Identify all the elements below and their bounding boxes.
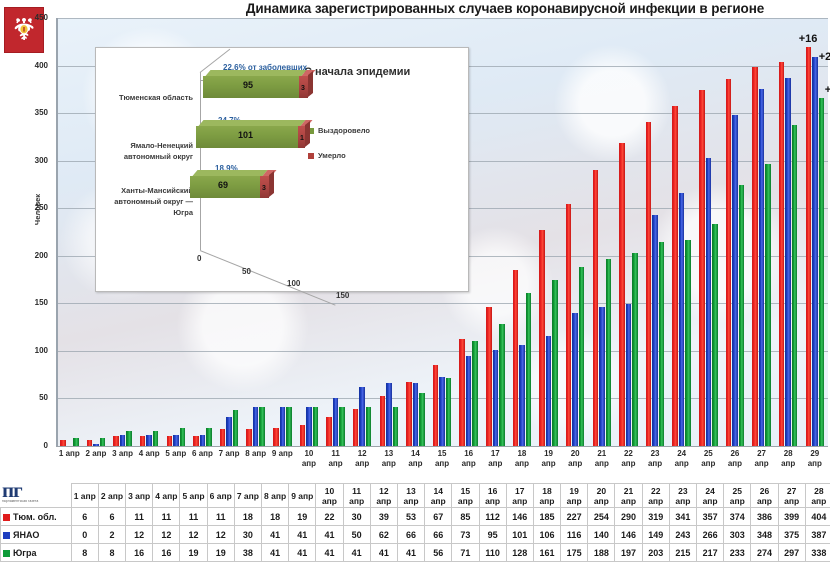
bar-1-23 [679,193,685,446]
table-cell: 19 [289,508,316,526]
bar-2-25 [739,185,745,446]
x-axis-label-25: 26апр [722,449,749,481]
table-cell: 11 [207,508,234,526]
x-axis-label-18: 19апр [535,449,562,481]
bar-2-9 [313,407,319,446]
table-col-header-27: 28апр [805,484,830,508]
inset-title: С начала эпидемии [304,64,424,80]
x-axis-label-2: 3 апр [109,449,136,481]
bar-1-11 [359,387,365,446]
bar-group [802,18,829,446]
bar-0-1 [87,440,93,446]
table-col-header-11: 12апр [370,484,397,508]
table-col-header-16: 17апр [506,484,533,508]
x-axis-label-16: 17апр [482,449,509,481]
bar-1-10 [333,398,339,446]
bar-0-6 [220,429,226,446]
table-cell: 106 [533,526,560,544]
y-axis-tick-100: 100 [0,346,48,355]
x-axis-label-9: 10апр [296,449,323,481]
x-axis-label-15: 16апр [455,449,482,481]
bar-0-13 [406,382,412,446]
table-col-header-1: 2 апр [98,484,125,508]
bar-2-14 [446,378,452,446]
bar-1-2 [120,435,126,446]
table-cell: 50 [343,526,370,544]
inset-bar-tyumen: 95 3 [203,76,299,98]
bar-1-14 [439,377,445,446]
x-axis-label-21: 22апр [615,449,642,481]
table-cell: 140 [588,526,615,544]
bar-1-20 [599,307,605,446]
table-col-header-20: 21апр [615,484,642,508]
bar-2-11 [366,407,372,446]
x-axis-label-5: 6 апр [189,449,216,481]
bar-0-21 [619,143,625,446]
x-axis-label-20: 21апр [589,449,616,481]
data-table: 1 апр2 апр3 апр4 апр5 апр6 апр7 апр8 апр… [0,483,830,562]
table-cell: 53 [397,508,424,526]
table-cell: 399 [778,508,805,526]
bar-1-9 [306,407,312,446]
bar-0-17 [513,270,519,446]
table-cell: 11 [126,508,153,526]
bar-group [482,18,509,446]
bar-0-24 [699,90,705,446]
table-cell: 387 [805,526,830,544]
inset-axis-tick-150: 150 [336,291,349,300]
y-axis-tick-150: 150 [0,298,48,307]
series-swatch-icon [3,514,10,521]
x-axis-label-10: 11апр [322,449,349,481]
bar-1-17 [519,345,525,446]
bar-0-23 [672,106,678,446]
x-axis-label-17: 18апр [509,449,536,481]
table-cell: 30 [343,508,370,526]
bar-2-24 [712,224,718,446]
bar-group [615,18,642,446]
table-col-header-3: 4 апр [153,484,180,508]
bar-0-14 [433,365,439,446]
bar-2-16 [499,324,505,446]
table-cell: 116 [561,526,588,544]
table-col-header-2: 3 апр [126,484,153,508]
table-col-header-24: 25апр [724,484,751,508]
bar-2-6 [233,410,239,446]
bar-0-25 [726,79,732,446]
bar-2-28 [819,98,825,446]
bar-2-1 [100,438,106,446]
table-cell: 375 [778,526,805,544]
table-cell: 11 [153,508,180,526]
legend-label-recovered: Выздоровело [318,126,370,135]
bar-2-12 [393,407,399,446]
x-axis-label-11: 12апр [349,449,376,481]
table-corner-cell [1,484,72,508]
bar-2-15 [472,341,478,446]
bar-group [56,18,83,446]
x-axis-label-3: 4 апр [136,449,163,481]
y-axis-tick-450: 450 [0,13,48,22]
bar-2-7 [259,407,265,446]
inset-category-label-1: Ямало-Ненецкий автономный округ [101,140,193,162]
bar-0-0 [60,440,66,446]
table-cell: 254 [588,508,615,526]
x-axis-label-8: 9 апр [269,449,296,481]
inset-bar-yanao: 101 1 [196,126,298,148]
table-col-header-23: 24апр [697,484,724,508]
inset-bar-value-recovered: 101 [238,130,253,140]
legend-swatch-died-icon [308,153,314,159]
bar-0-28 [806,47,812,446]
inset-bar-value-recovered: 69 [218,180,228,190]
table-col-header-0: 1 апр [71,484,98,508]
table-row: Тюм. обл.6611111111181819223039536785112… [1,508,830,526]
bar-1-1 [93,444,99,446]
table-cell: 386 [751,508,778,526]
y-axis-tick-200: 200 [0,251,48,260]
table-cell: 101 [506,526,533,544]
bar-0-2 [113,436,119,446]
bar-2-20 [606,259,612,446]
bar-1-16 [493,350,499,446]
x-axis-label-7: 8 апр [242,449,269,481]
table-cell: 67 [425,508,452,526]
bar-group [535,18,562,446]
inset-value-axis [200,72,201,250]
bar-0-15 [459,339,465,446]
bar-0-10 [326,417,332,446]
table-cell: 11 [180,508,207,526]
bar-2-26 [765,164,771,446]
bar-2-17 [526,293,532,446]
bar-1-18 [546,336,552,446]
bar-1-24 [706,158,712,446]
table-cell: 18 [262,508,289,526]
y-axis-tick-400: 400 [0,61,48,70]
x-axis-label-26: 27апр [748,449,775,481]
table-cell: 30 [234,526,261,544]
table-col-header-19: 20апр [588,484,615,508]
table-header-row: 1 апр2 апр3 апр4 апр5 апр6 апр7 апр8 апр… [1,484,830,508]
table-cell: 266 [697,526,724,544]
table-col-header-5: 6 апр [207,484,234,508]
y-axis-tick-250: 250 [0,203,48,212]
table-cell: 185 [533,508,560,526]
inset-bar-value-died: 1 [300,135,304,142]
table-cell: 404 [805,508,830,526]
table-cell: 18 [234,508,261,526]
legend-item-died: Умерло [308,151,370,160]
bar-2-3 [153,431,159,446]
inset-bar-died-side [305,121,310,147]
bar-1-28 [812,57,818,446]
table-col-header-18: 19апр [561,484,588,508]
bar-0-8 [273,428,279,446]
bar-0-26 [752,67,758,446]
bar-2-2 [126,431,132,446]
table-cell: 146 [506,508,533,526]
x-axis-label-12: 13апр [376,449,403,481]
inset-bar-died-side [308,71,313,97]
inset-bar-ugra: 69 3 [190,176,260,198]
bar-1-4 [173,435,179,446]
inset-bar-value-died: 3 [262,185,266,192]
table-cell: 146 [615,526,642,544]
bar-1-27 [785,78,791,446]
bar-0-11 [353,409,359,446]
series-swatch-icon [3,532,10,539]
x-axis-label-24: 25апр [695,449,722,481]
bar-group [695,18,722,446]
series-name: ЯНАО [13,530,39,540]
bar-1-25 [732,115,738,446]
bar-2-21 [632,253,638,446]
table-col-header-6: 7 апр [234,484,261,508]
bar-1-26 [759,89,765,446]
table-cell: 12 [180,526,207,544]
bar-1-15 [466,356,472,446]
table-cell: 73 [452,526,479,544]
table-cell: 12 [153,526,180,544]
bar-1-6 [226,417,232,446]
bar-2-23 [685,240,691,446]
table-cell: 227 [561,508,588,526]
table-cell: 374 [724,508,751,526]
table-cell: 149 [642,526,669,544]
delta-label-0: +16 [799,33,818,45]
screenshot-root: Динамика зарегистрированных случаев коро… [0,0,830,553]
table-cell: 341 [669,508,696,526]
axis-baseline [56,446,828,447]
bar-0-5 [193,436,199,446]
inset-bar-died-side [269,171,274,197]
table-cell: 290 [615,508,642,526]
bar-2-19 [579,267,585,446]
bar-0-16 [486,307,492,446]
inset-category-label-0: Тюменская область [101,92,193,103]
x-axis-label-28: 29апр [802,449,829,481]
table-row: ЯНАО021212121230414141506266667395101106… [1,526,830,544]
bar-group [589,18,616,446]
inset-axis-tick-100: 100 [287,279,300,288]
series-swatch-icon [3,550,10,557]
bar-0-20 [593,170,599,446]
table-col-header-25: 26апр [751,484,778,508]
table-cell: 41 [262,526,289,544]
bar-2-0 [73,438,79,446]
table-cell: 22 [316,508,343,526]
bar-0-19 [566,204,572,446]
table-cell: 95 [479,526,506,544]
bar-1-21 [626,304,632,446]
y-axis-tick-0: 0 [0,441,48,450]
bar-0-22 [646,122,652,446]
table-row-header-0: Тюм. обл. [1,508,72,526]
legend-item-recovered: Выздоровело [308,126,370,135]
bar-2-18 [552,280,558,446]
y-axis-tick-50: 50 [0,393,48,402]
table-col-header-21: 22апр [642,484,669,508]
bar-group [509,18,536,446]
table-cell: 66 [425,526,452,544]
x-axis-label-1: 2 апр [83,449,110,481]
bar-0-9 [300,425,306,446]
inset-axis-tick-0: 0 [197,254,201,263]
bar-0-7 [246,429,252,446]
x-axis-label-4: 5 апр [163,449,190,481]
table-cell: 6 [98,508,125,526]
x-axis-label-0: 1 апр [56,449,83,481]
table-col-header-26: 27апр [778,484,805,508]
bar-group [748,18,775,446]
x-axis-label-22: 23апр [642,449,669,481]
table-row-header-1: ЯНАО [1,526,72,544]
bar-1-5 [200,435,206,446]
bar-2-5 [206,428,212,446]
x-axis-label-19: 20апр [562,449,589,481]
bar-0-4 [167,436,173,446]
bar-0-18 [539,230,545,446]
table-cell: 348 [751,526,778,544]
inset-legend: Выздоровело Умерло [308,126,370,176]
table-cell: 243 [669,526,696,544]
inset-panel-since-epidemic-start: С начала эпидемии Выздоровело Умерло 0 5… [95,47,469,292]
table-cell: 12 [207,526,234,544]
bar-2-4 [180,428,186,446]
x-axis-label-13: 14апр [402,449,429,481]
x-axis-label-14: 15апр [429,449,456,481]
bar-group [642,18,669,446]
bar-0-3 [140,436,146,446]
bar-1-19 [572,313,578,446]
table-cell: 6 [71,508,98,526]
table-col-header-10: 11апр [343,484,370,508]
table-cell: 85 [452,508,479,526]
table-cell: 303 [724,526,751,544]
bar-2-27 [792,125,798,446]
bar-2-13 [419,393,425,446]
table-col-header-17: 18апр [533,484,560,508]
table-cell: 39 [370,508,397,526]
table-cell: 62 [370,526,397,544]
bar-0-27 [779,62,785,446]
bar-group [775,18,802,446]
y-axis-tick-300: 300 [0,156,48,165]
delta-label-1: +22 [819,51,830,63]
page-title: Динамика зарегистрированных случаев коро… [180,1,830,16]
table-cell: 66 [397,526,424,544]
table-col-header-4: 5 апр [180,484,207,508]
bar-2-8 [286,407,292,446]
table-col-header-15: 16апр [479,484,506,508]
table-col-header-14: 15апр [452,484,479,508]
x-axis-label-23: 24апр [668,449,695,481]
table-col-header-9: 10апр [316,484,343,508]
x-axis-label-27: 28апр [775,449,802,481]
table-cell: 357 [697,508,724,526]
table-col-header-8: 9 апр [289,484,316,508]
bar-1-22 [652,215,658,446]
inset-category-label-2: Ханты-Мансийский автономный округ — Югра [101,185,193,218]
table-col-header-7: 8 апр [262,484,289,508]
bar-1-13 [413,383,419,446]
inset-bar-value-died: 3 [301,85,305,92]
x-axis-labels: 1 апр2 апр3 апр4 апр5 апр6 апр7 апр8 апр… [56,449,828,481]
bar-group [562,18,589,446]
table-col-header-13: 14апр [425,484,452,508]
table-cell: 12 [126,526,153,544]
table-cell: 41 [289,526,316,544]
bar-1-8 [280,407,286,446]
y-axis-tick-350: 350 [0,108,48,117]
table-cell: 41 [316,526,343,544]
table-cell: 2 [98,526,125,544]
table-cell: 112 [479,508,506,526]
inset-bar-value-recovered: 95 [243,80,253,90]
delta-label-2: +28 [825,84,830,96]
table-col-header-22: 23апр [669,484,696,508]
table-cell: 0 [71,526,98,544]
inset-axis-tick-50: 50 [242,267,251,276]
bar-0-12 [380,396,386,446]
legend-label-died: Умерло [318,151,346,160]
series-name: Тюм. обл. [13,512,57,522]
x-axis-label-6: 7 апр [216,449,243,481]
bar-group [722,18,749,446]
bar-2-10 [339,407,345,446]
bar-1-3 [146,435,152,446]
bar-2-22 [659,242,665,446]
bar-1-7 [253,407,259,446]
table-cell: 319 [642,508,669,526]
table-col-header-12: 13апр [397,484,424,508]
bar-1-12 [386,383,392,446]
bar-group [668,18,695,446]
